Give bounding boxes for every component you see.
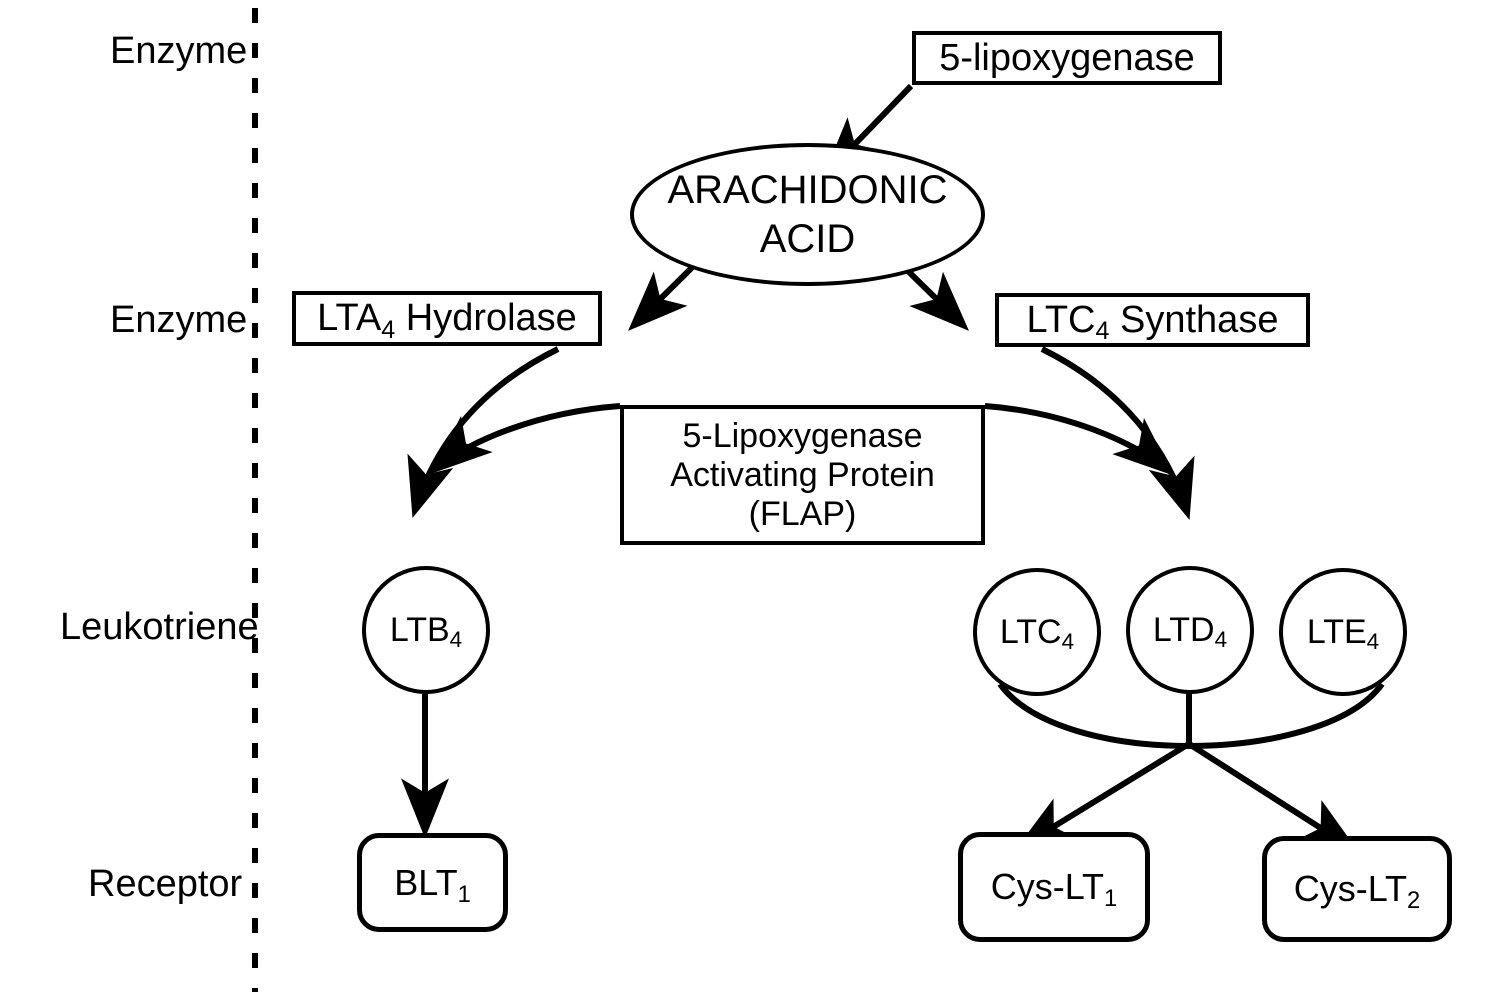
node-ltc4-synthase-prefix: LTC: [1027, 299, 1096, 341]
node-ltb4-label: LTB4: [390, 611, 462, 650]
node-ltb4[interactable]: LTB4: [362, 566, 490, 694]
node-flap[interactable]: 5-Lipoxygenase Activating Protein (FLAP): [620, 405, 985, 545]
node-ltb4-prefix: LTB: [390, 611, 450, 649]
node-ltc4-label: LTC4: [1000, 613, 1074, 652]
node-cyslt2-prefix: Cys-LT: [1294, 868, 1407, 909]
node-ltc4-synthase[interactable]: LTC4 Synthase: [995, 293, 1310, 347]
node-lta4-hydrolase-suffix: Hydrolase: [395, 297, 577, 339]
node-lta4-hydrolase-label: LTA4 Hydrolase: [317, 297, 577, 340]
row-label-enzyme-mid: Enzyme: [110, 301, 247, 339]
node-blt1-subscript: 1: [458, 881, 471, 908]
pathway-diagram: Enzyme Enzyme Leukotriene Receptor 5-lip…: [0, 0, 1504, 1008]
curve-lta4-hydrolase-to-ltb4: [415, 349, 558, 510]
node-ltd4-label: LTD4: [1153, 611, 1227, 650]
node-cyslt1[interactable]: Cys-LT1: [958, 832, 1150, 942]
node-cyslt1-subscript: 1: [1104, 885, 1117, 912]
arrow-junction-to-cyslt2: [1186, 742, 1352, 848]
node-arachidonic-acid-line1: ARACHIDONIC: [667, 168, 947, 213]
row-label-leukotriene: Leukotriene: [60, 608, 259, 646]
node-flap-line1: 5-Lipoxygenase: [682, 417, 922, 456]
node-lta4-hydrolase-prefix: LTA: [317, 297, 381, 339]
node-cyslt2-label: Cys-LT2: [1294, 868, 1421, 910]
node-cyslt1-prefix: Cys-LT: [991, 866, 1104, 907]
node-arachidonic-acid[interactable]: ARACHIDONIC ACID: [630, 143, 985, 286]
row-label-enzyme-top: Enzyme: [110, 32, 247, 70]
node-blt1-label: BLT1: [394, 862, 471, 904]
arrow-junction-to-cyslt1: [1022, 742, 1192, 846]
node-blt1[interactable]: BLT1: [357, 833, 508, 932]
node-blt1-prefix: BLT: [394, 862, 457, 903]
node-ltc4-prefix: LTC: [1000, 613, 1062, 651]
curve-ltc4-synthase-to-cys-lts: [1042, 349, 1187, 512]
node-flap-line2: Activating Protein: [670, 456, 935, 495]
node-lte4-prefix: LTE: [1307, 613, 1367, 651]
node-cyslt2[interactable]: Cys-LT2: [1262, 836, 1452, 942]
node-flap-line3: (FLAP): [749, 495, 857, 534]
node-cyslt1-label: Cys-LT1: [991, 866, 1118, 908]
node-cyslt2-subscript: 2: [1407, 887, 1420, 914]
node-ltc4-subscript: 4: [1062, 629, 1074, 654]
node-5-lipoxygenase-label: 5-lipoxygenase: [939, 37, 1195, 80]
node-ltc4[interactable]: LTC4: [973, 568, 1101, 696]
node-ltb4-subscript: 4: [450, 627, 462, 652]
node-lta4-hydrolase[interactable]: LTA4 Hydrolase: [292, 291, 602, 346]
node-lte4[interactable]: LTE4: [1279, 568, 1407, 696]
node-ltc4-synthase-suffix: Synthase: [1109, 299, 1278, 341]
node-lta4-hydrolase-subscript: 4: [381, 316, 395, 344]
node-ltd4[interactable]: LTD4: [1126, 566, 1254, 694]
node-ltc4-synthase-label: LTC4 Synthase: [1027, 299, 1279, 342]
node-ltd4-subscript: 4: [1215, 627, 1227, 652]
node-5-lipoxygenase[interactable]: 5-lipoxygenase: [912, 31, 1222, 85]
node-lte4-label: LTE4: [1307, 613, 1379, 652]
node-ltc4-synthase-subscript: 4: [1096, 317, 1110, 345]
curve-flap-to-cys-lts: [985, 406, 1167, 470]
row-label-receptor: Receptor: [88, 865, 242, 903]
node-lte4-subscript: 4: [1367, 629, 1379, 654]
node-ltd4-prefix: LTD: [1153, 611, 1215, 649]
node-arachidonic-acid-line2: ACID: [760, 217, 856, 262]
